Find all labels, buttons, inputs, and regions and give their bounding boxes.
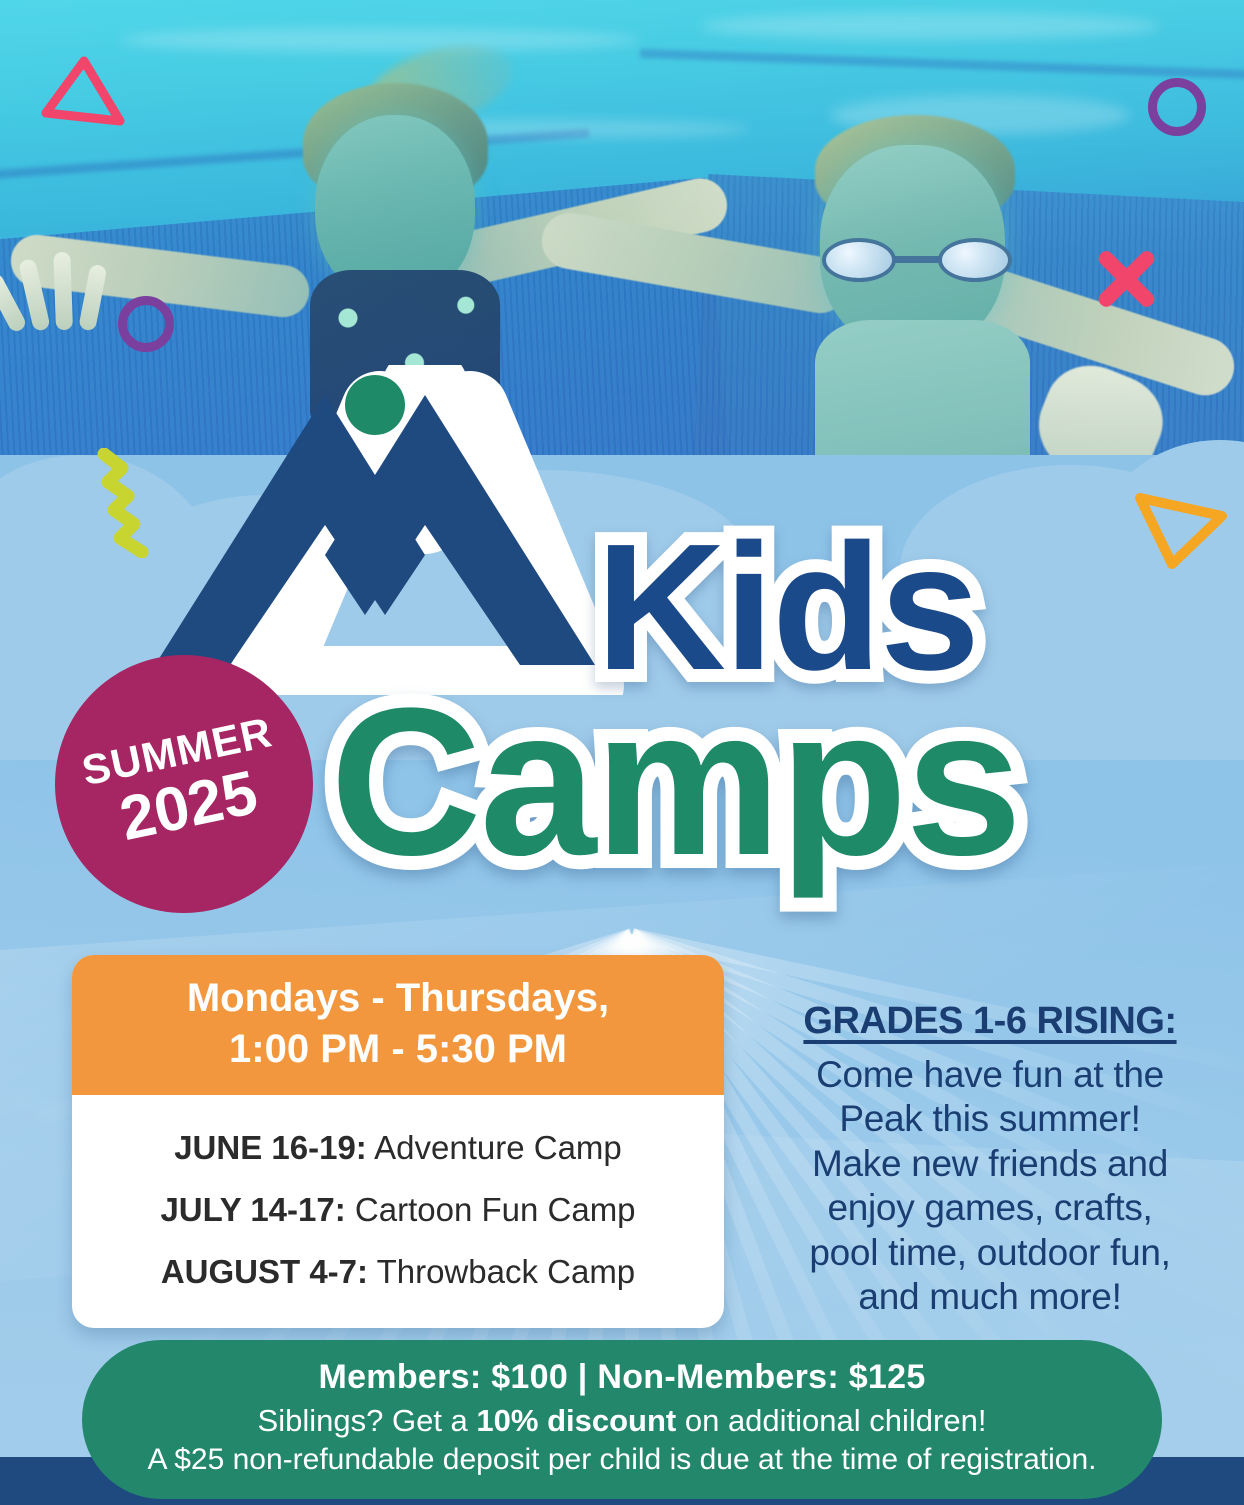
schedule-card: Mondays - Thursdays, 1:00 PM - 5:30 PM J… [72, 955, 724, 1328]
grades-body-line: and much more! [745, 1275, 1235, 1319]
water-lane-line [640, 49, 1244, 80]
grades-body-line: enjoy games, crafts, [745, 1186, 1235, 1230]
boy-swim-goggles [822, 238, 1012, 282]
schedule-row: JULY 14-17: Cartoon Fun Camp [82, 1179, 714, 1241]
schedule-row-dates: JUNE 16-19: [174, 1129, 367, 1166]
girl-left-hand [0, 215, 110, 330]
schedule-days: Mondays - Thursdays, [88, 973, 708, 1024]
grades-body-line: pool time, outdoor fun, [745, 1231, 1235, 1275]
circle-outline-purple-icon [118, 296, 174, 352]
schedule-header: Mondays - Thursdays, 1:00 PM - 5:30 PM [72, 955, 724, 1095]
schedule-row-dates: AUGUST 4-7: [161, 1253, 368, 1290]
flyer-canvas: Kids Camps SUMMER 2025 Mondays - Thursda… [0, 0, 1244, 1505]
schedule-row-name: Adventure Camp [367, 1129, 622, 1166]
circle-outline-purple-icon [1148, 78, 1206, 136]
pricing-deposit-line: A $25 non-refundable deposit per child i… [112, 1443, 1132, 1477]
sibling-text-pre: Siblings? Get a [258, 1403, 477, 1438]
schedule-row: JUNE 16-19: Adventure Camp [82, 1117, 714, 1179]
grades-body-line: Peak this summer! [745, 1097, 1235, 1141]
grades-body-line: Make new friends and [745, 1142, 1235, 1186]
triangle-outline-pink-icon [38, 55, 126, 133]
schedule-times: 1:00 PM - 5:30 PM [88, 1024, 708, 1075]
sibling-discount-amount: 10% discount [476, 1403, 676, 1438]
schedule-row: AUGUST 4-7: Throwback Camp [82, 1241, 714, 1303]
pricing-sibling-discount-line: Siblings? Get a 10% discount on addition… [112, 1403, 1132, 1439]
pricing-banner: Members: $100 | Non-Members: $125 Siblin… [82, 1340, 1162, 1499]
schedule-row-dates: JULY 14-17: [160, 1191, 345, 1228]
sibling-text-post: on additional children! [676, 1403, 986, 1438]
grades-info-block: GRADES 1-6 RISING: Come have fun at theP… [745, 1000, 1235, 1319]
water-surface-streak [120, 28, 640, 52]
x-mark-pink-icon [1090, 243, 1162, 315]
grades-body-text: Come have fun at thePeak this summer!Mak… [745, 1053, 1235, 1319]
water-surface-streak [700, 12, 1160, 40]
schedule-row-name: Cartoon Fun Camp [346, 1191, 636, 1228]
grades-heading: GRADES 1-6 RISING: [745, 1000, 1235, 1043]
pricing-members-line: Members: $100 | Non-Members: $125 [112, 1358, 1132, 1397]
peak-mountain-logo [95, 365, 655, 695]
schedule-row-name: Throwback Camp [368, 1253, 635, 1290]
schedule-rows: JUNE 16-19: Adventure CampJULY 14-17: Ca… [72, 1095, 724, 1328]
title-line-camps: Camps [330, 685, 1020, 878]
grades-body-line: Come have fun at the [745, 1053, 1235, 1097]
